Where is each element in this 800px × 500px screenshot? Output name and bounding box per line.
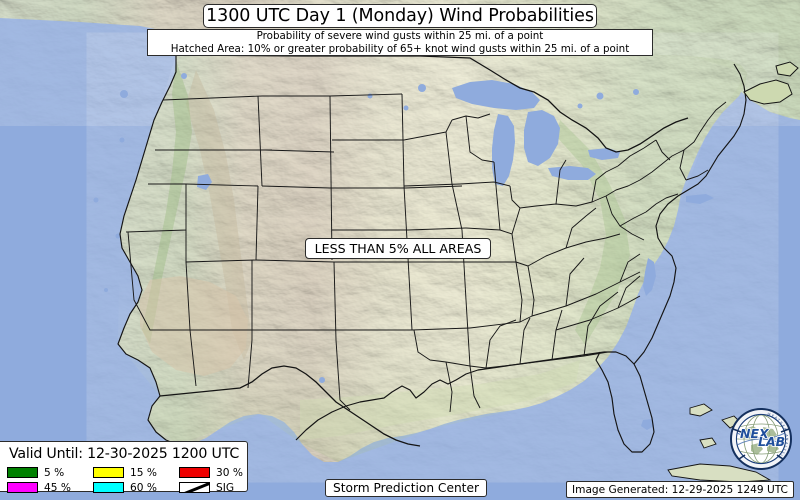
legend-item-45pct: 45 %: [7, 482, 93, 494]
legend-swatch-grid: 5 % 15 % 30 % 45 % 60 % SIG: [7, 465, 241, 495]
small-lake: [104, 288, 108, 292]
legend-item-30pct: 30 %: [179, 467, 253, 479]
agency-label: Storm Prediction Center: [325, 479, 487, 497]
legend-swatch-15pct: [93, 467, 124, 478]
small-lake: [404, 106, 409, 111]
small-lake: [578, 104, 583, 109]
legend-label-60pct: 60 %: [130, 482, 157, 494]
nexlab-logo[interactable]: WEATHER ANALYSIS NEX LAB: [727, 405, 795, 473]
legend-swatch-60pct: [93, 482, 124, 493]
small-lake: [181, 73, 187, 79]
logo-text-lab: LAB: [758, 434, 785, 449]
probability-legend: Valid Until: 12-30-2025 1200 UTC 5 % 15 …: [0, 441, 248, 492]
legend-swatch-45pct: [7, 482, 38, 493]
legend-swatch-sig-hatched: [179, 482, 210, 493]
legend-label-15pct: 15 %: [130, 467, 157, 479]
legend-item-15pct: 15 %: [93, 467, 179, 479]
valid-until-label: Valid Until: 12-30-2025 1200 UTC: [7, 446, 241, 462]
probability-callout: LESS THAN 5% ALL AREAS: [305, 238, 491, 259]
subtitle-line-2: Hatched Area: 10% or greater probability…: [171, 43, 629, 56]
legend-item-sig: SIG: [179, 482, 253, 494]
small-lake: [418, 84, 426, 92]
legend-swatch-5pct: [7, 467, 38, 478]
legend-label-5pct: 5 %: [44, 467, 64, 479]
image-generated-label: Image Generated: 12-29-2025 1249 UTC: [566, 481, 794, 498]
legend-swatch-30pct: [179, 467, 210, 478]
legend-item-5pct: 5 %: [7, 467, 93, 479]
map-title: 1300 UTC Day 1 (Monday) Wind Probabiliti…: [203, 4, 597, 28]
small-lake: [319, 377, 325, 383]
small-lake: [368, 94, 373, 99]
legend-label-30pct: 30 %: [216, 467, 243, 479]
map-subtitle: Probability of severe wind gusts within …: [147, 29, 653, 56]
small-lake: [120, 90, 128, 98]
legend-label-sig: SIG: [216, 482, 234, 494]
legend-item-60pct: 60 %: [93, 482, 179, 494]
legend-label-45pct: 45 %: [44, 482, 71, 494]
small-lake: [120, 138, 125, 143]
subtitle-line-1: Probability of severe wind gusts within …: [257, 30, 544, 43]
small-lake: [597, 93, 604, 100]
small-lake: [633, 89, 639, 95]
spc-wind-probability-map: 1300 UTC Day 1 (Monday) Wind Probabiliti…: [0, 0, 800, 500]
small-lake: [94, 198, 99, 203]
